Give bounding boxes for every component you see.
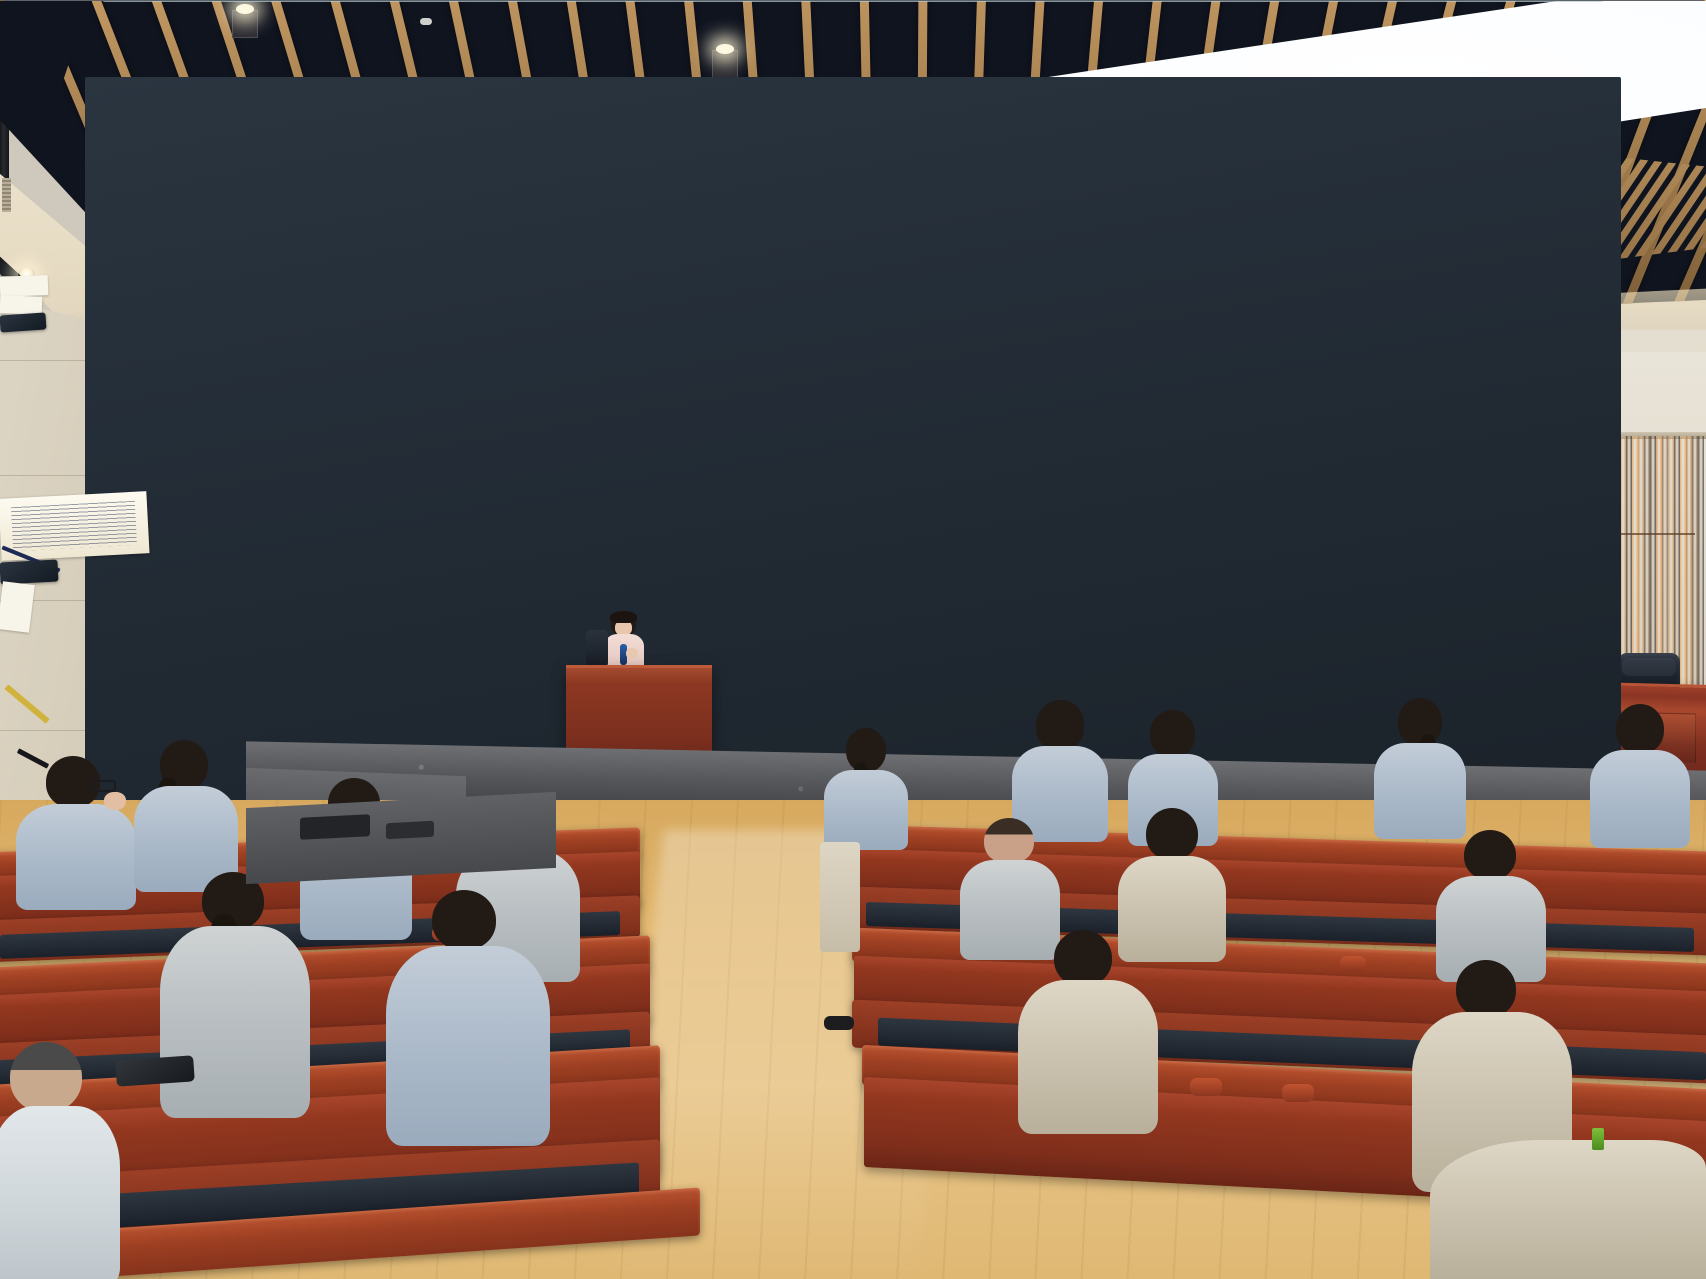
ceiling-spotlight-icon [232, 10, 258, 38]
list-item [1590, 704, 1690, 846]
presenter-hair-front [610, 611, 637, 623]
green-marker-icon [1592, 1128, 1604, 1150]
aisle-equipment [300, 814, 370, 840]
list-item [386, 890, 550, 1140]
air-vent-icon [2, 178, 11, 212]
open-notebook [0, 491, 150, 561]
ceiling-spotlight-icon [712, 50, 738, 78]
paper-sheet [0, 581, 35, 633]
smartphone-icon [0, 559, 59, 584]
list-item [0, 1042, 120, 1279]
bench-armrest [1190, 1078, 1222, 1096]
list-item [134, 740, 238, 890]
smartphone-icon [0, 312, 47, 332]
tote-bag [820, 842, 860, 952]
list-item [1430, 1140, 1706, 1279]
bench-armrest [1340, 956, 1366, 971]
list-item [1436, 830, 1546, 980]
hand-with-pen [104, 792, 126, 810]
presenter-hand [626, 648, 638, 659]
shoe [824, 1016, 854, 1030]
list-item [822, 728, 908, 848]
eyeglasses-case [115, 1055, 195, 1086]
aisle-equipment [386, 821, 434, 840]
conference-hall-photo: （二）公共突发事件的分类 1、从出现的角度划分，可以分为人为因素和自然因素 zj… [0, 0, 1706, 1279]
paper-sheet [0, 295, 42, 314]
eyeglasses-icon [90, 780, 116, 792]
bench-armrest [1282, 1084, 1314, 1102]
smoke-detector-icon [420, 18, 432, 25]
paper-sheet [0, 275, 48, 297]
list-item [16, 756, 136, 906]
list-item [1374, 698, 1466, 838]
presenter-chair[interactable] [586, 630, 608, 668]
list-item [1018, 930, 1158, 1130]
